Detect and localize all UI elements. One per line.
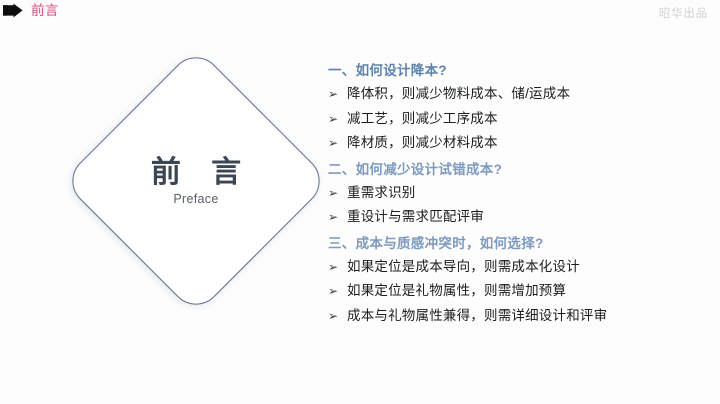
section-2-heading: 二、如何减少设计试错成本? [328, 159, 708, 181]
topbar-left-group: 前言 [2, 3, 59, 20]
topbar-title: 前言 [31, 4, 59, 19]
bullet-arrow-icon: ➢ [328, 255, 347, 280]
preface-diamond-badge: 前 言 Preface [101, 86, 291, 276]
section-3-heading: 三、成本与质感冲突时，如何选择? [328, 233, 708, 255]
list-item: ➢ 如果定位是礼物属性，则需增加预算 [328, 279, 708, 304]
bullet-arrow-icon: ➢ [328, 304, 347, 329]
list-item-label: 重需求识别 [347, 181, 416, 206]
diamond-title-cn: 前 言 [140, 156, 252, 189]
list-item-label: 重设计与需求匹配评审 [347, 205, 484, 230]
list-item-label: 减工艺，则减少工序成本 [347, 107, 498, 132]
bullet-arrow-icon: ➢ [328, 279, 347, 304]
section-1-heading: 一、如何设计降本? [328, 60, 708, 82]
section-1: 一、如何设计降本? ➢ 降体积，则减少物料成本、储/运成本 ➢ 减工艺，则减少工… [328, 60, 708, 156]
list-item: ➢ 减工艺，则减少工序成本 [328, 107, 708, 132]
list-item-label: 成本与礼物属性兼得，则需详细设计和评审 [347, 304, 607, 329]
diamond-title-en: Preface [173, 192, 218, 206]
slide-topbar: 前言 昭华出品 [0, 0, 720, 28]
right-arrow-icon [2, 3, 24, 20]
bullet-arrow-icon: ➢ [328, 205, 347, 230]
section-2: 二、如何减少设计试错成本? ➢ 重需求识别 ➢ 重设计与需求匹配评审 [328, 159, 708, 230]
content-column: 一、如何设计降本? ➢ 降体积，则减少物料成本、储/运成本 ➢ 减工艺，则减少工… [328, 60, 708, 328]
list-item-label: 如果定位是成本导向，则需成本化设计 [347, 255, 580, 280]
list-item-label: 降体积，则减少物料成本、储/运成本 [347, 82, 570, 107]
list-item: ➢ 如果定位是成本导向，则需成本化设计 [328, 255, 708, 280]
bullet-arrow-icon: ➢ [328, 131, 347, 156]
list-item: ➢ 成本与礼物属性兼得，则需详细设计和评审 [328, 304, 708, 329]
bullet-arrow-icon: ➢ [328, 107, 347, 132]
list-item: ➢ 降材质，则减少材料成本 [328, 131, 708, 156]
section-3: 三、成本与质感冲突时，如何选择? ➢ 如果定位是成本导向，则需成本化设计 ➢ 如… [328, 233, 708, 329]
bullet-arrow-icon: ➢ [328, 82, 347, 107]
slide-root: 前言 昭华出品 前 言 Preface 一、如何设计降本? ➢ 降体积，则减少物… [0, 0, 720, 404]
list-item: ➢ 降体积，则减少物料成本、储/运成本 [328, 82, 708, 107]
watermark-label: 昭华出品 [659, 5, 708, 21]
list-item-label: 如果定位是礼物属性，则需增加预算 [347, 279, 566, 304]
diamond-label-group: 前 言 Preface [101, 86, 291, 276]
list-item: ➢ 重设计与需求匹配评审 [328, 205, 708, 230]
bullet-arrow-icon: ➢ [328, 181, 347, 206]
list-item-label: 降材质，则减少材料成本 [347, 131, 498, 156]
list-item: ➢ 重需求识别 [328, 181, 708, 206]
